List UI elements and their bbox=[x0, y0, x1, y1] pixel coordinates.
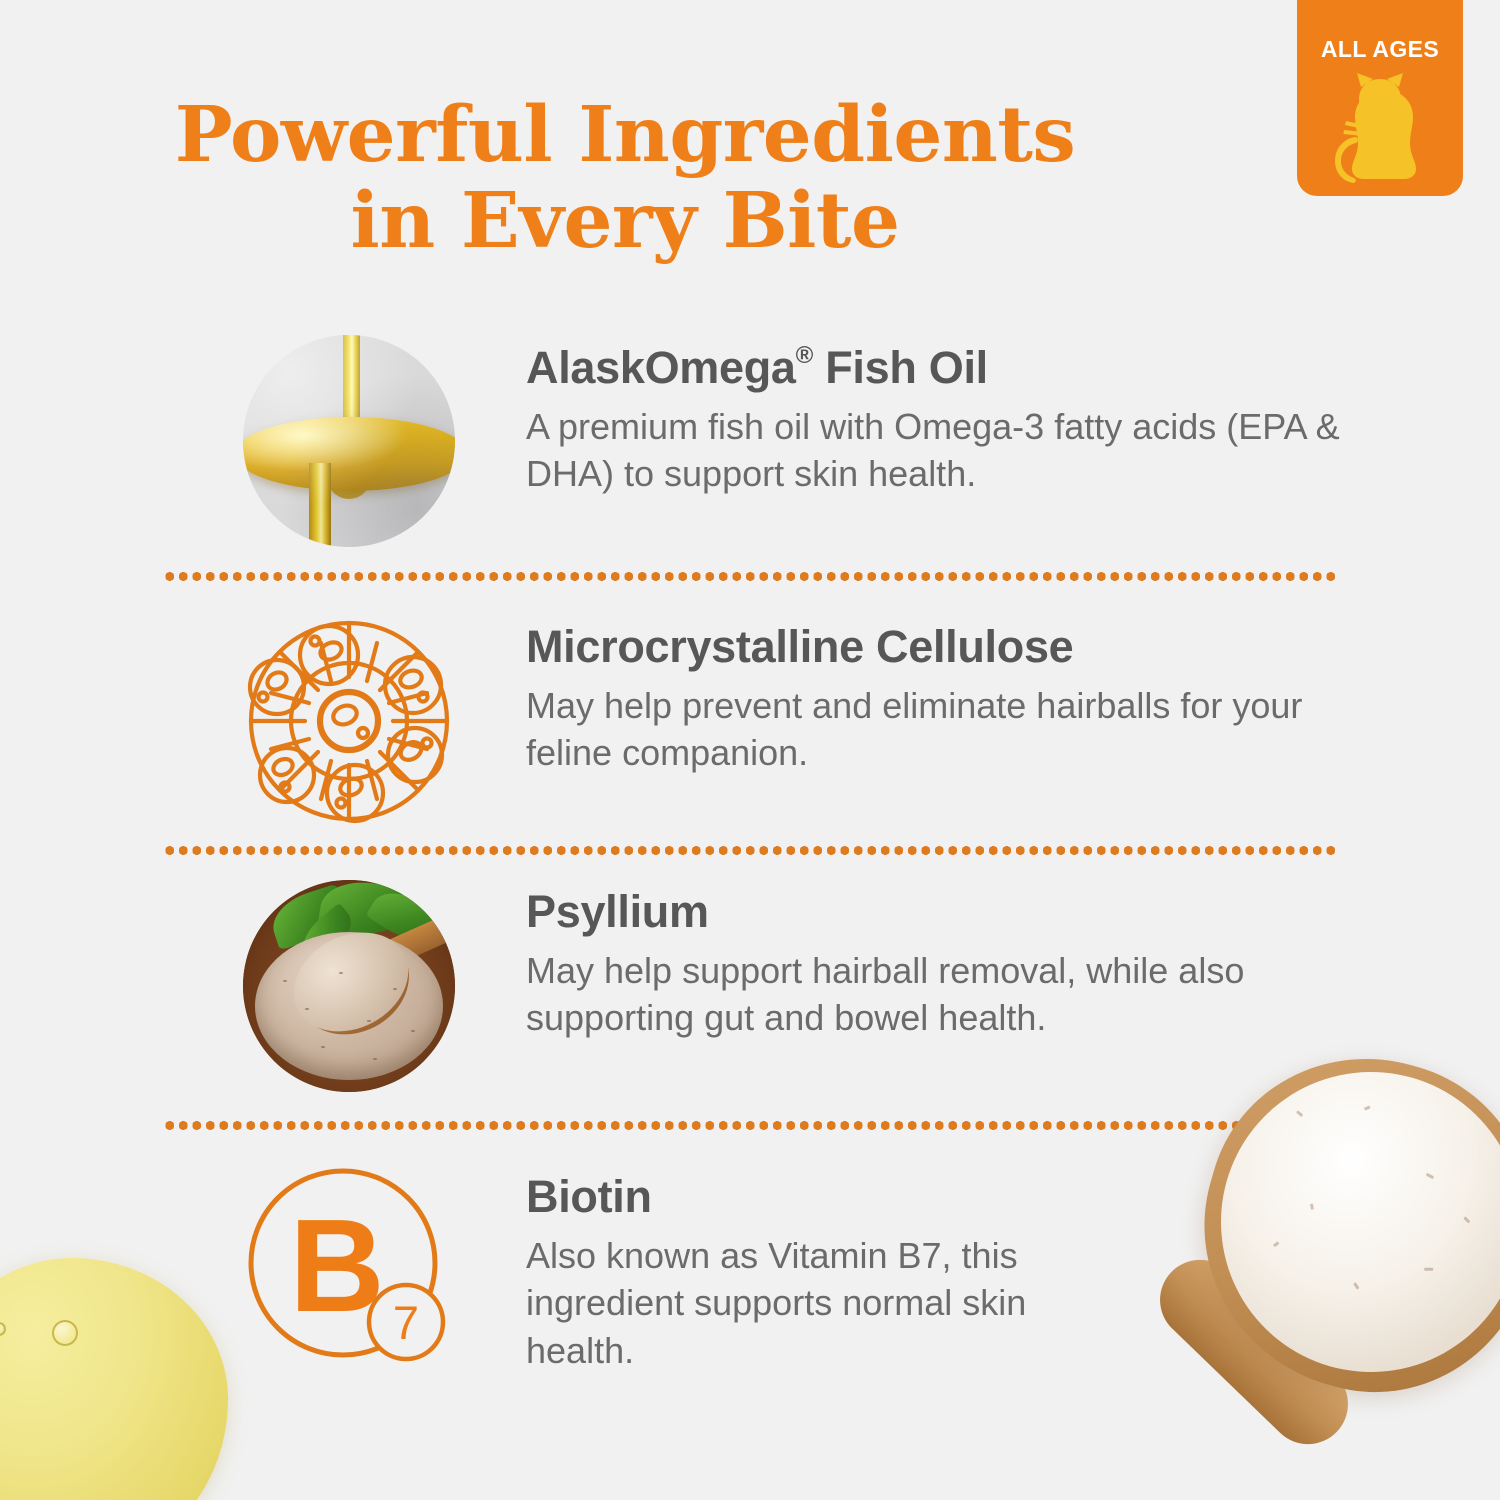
cellulose-text: Microcrystalline Cellulose May help prev… bbox=[526, 615, 1363, 777]
ingredient-title-suffix: Fish Oil bbox=[813, 342, 988, 393]
ingredient-description-cellulose: May help prevent and eliminate hairballs… bbox=[526, 682, 1346, 777]
cellulose-media bbox=[243, 615, 455, 827]
psyllium-husk-photo bbox=[243, 880, 455, 1092]
sitting-cat-icon bbox=[1328, 73, 1432, 185]
page-title-line1: Powerful Ingredients bbox=[175, 90, 1076, 180]
psyllium-text: Psyllium May help support hairball remov… bbox=[526, 880, 1363, 1042]
oil-bubble bbox=[52, 1320, 78, 1346]
page-title: Powerful Ingredients in Every Bite bbox=[0, 92, 1250, 264]
biotin-media: B 7 bbox=[243, 1165, 455, 1377]
biotin-b7-icon: B 7 bbox=[243, 1165, 455, 1377]
ingredient-description-fish-oil: A premium fish oil with Omega-3 fatty ac… bbox=[526, 403, 1346, 498]
biotin-subscript: 7 bbox=[393, 1296, 419, 1349]
fish-oil-photo bbox=[243, 335, 455, 547]
ingredient-row-cellulose: Microcrystalline Cellulose May help prev… bbox=[243, 615, 1363, 827]
psyllium-media bbox=[243, 880, 455, 1092]
ingredient-title-psyllium: Psyllium bbox=[526, 888, 1363, 937]
oil-droplet-image bbox=[0, 1258, 228, 1500]
fish-oil-text: AlaskOmega® Fish Oil A premium fish oil … bbox=[526, 335, 1363, 498]
oil-photo-shading bbox=[243, 335, 455, 547]
infographic-canvas: ALL AGES Powerful Ingredients in bbox=[0, 0, 1500, 1500]
cellulose-structure-icon bbox=[243, 615, 455, 827]
ingredient-description-biotin: Also known as Vitamin B7, this ingredien… bbox=[526, 1232, 1046, 1375]
fish-oil-media bbox=[243, 335, 455, 547]
all-ages-badge-label: ALL AGES bbox=[1321, 38, 1439, 61]
registered-trademark-icon: ® bbox=[796, 342, 813, 369]
ingredient-title-fish-oil: AlaskOmega® Fish Oil bbox=[526, 343, 1363, 393]
page-title-line2: in Every Bite bbox=[0, 178, 1250, 264]
ingredient-title-main: AlaskOmega bbox=[526, 342, 796, 393]
ingredient-description-psyllium: May help support hairball removal, while… bbox=[526, 947, 1346, 1042]
psyllium-spoon-image bbox=[1075, 1060, 1500, 1500]
all-ages-badge: ALL AGES bbox=[1297, 0, 1463, 196]
ingredient-title-cellulose: Microcrystalline Cellulose bbox=[526, 623, 1363, 672]
divider-1 bbox=[163, 572, 1337, 581]
ingredient-row-fish-oil: AlaskOmega® Fish Oil A premium fish oil … bbox=[243, 335, 1363, 547]
oil-bubble bbox=[0, 1322, 6, 1336]
divider-2 bbox=[163, 846, 1337, 855]
